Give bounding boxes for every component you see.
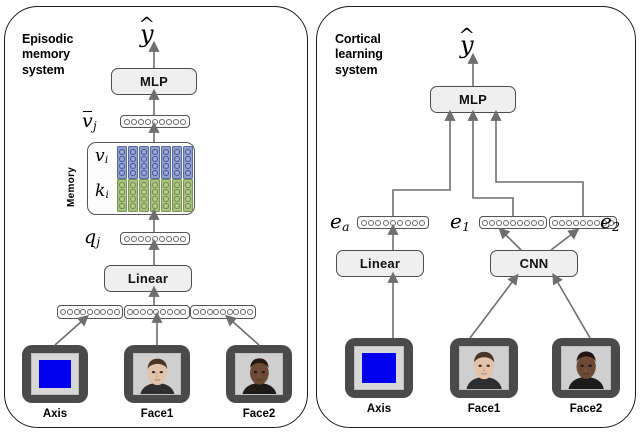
axis-embedding-cell xyxy=(397,220,403,226)
memory-key-dot xyxy=(119,189,125,195)
memory-value-dot xyxy=(174,163,180,169)
concat-segment-cell xyxy=(147,309,153,315)
memory-value-dot xyxy=(119,156,125,162)
memory-value-dot xyxy=(141,156,147,162)
stimulus-inner-face2-episodic xyxy=(235,353,284,396)
query-vector-cell xyxy=(180,236,186,242)
memory-key-dot xyxy=(174,196,180,202)
concat-segment-cell xyxy=(60,309,66,315)
concat-segment-cell xyxy=(107,309,113,315)
panel-title-episodic: Episodic memory system xyxy=(22,32,114,78)
memory-value-dot xyxy=(163,149,169,155)
face2-embedding-cell xyxy=(594,220,600,226)
memory-key-column xyxy=(117,179,127,212)
memory-key-dot xyxy=(119,182,125,188)
memory-value-dot xyxy=(152,149,158,155)
stimulus-inner-face1-cortical xyxy=(459,346,509,390)
memory-key-dot xyxy=(119,196,125,202)
caption-axis-episodic: Axis xyxy=(22,408,88,420)
memory-key-column xyxy=(139,179,149,212)
concat-segment-cell xyxy=(100,309,106,315)
concat-embedding-episodic xyxy=(57,305,256,319)
face1-embedding-cell xyxy=(517,220,523,226)
memory-key-dot xyxy=(130,203,136,209)
stimulus-tile-face1-episodic[interactable] xyxy=(124,345,190,403)
face2-image-episodic xyxy=(236,354,283,395)
memory-key-dot xyxy=(174,182,180,188)
mlp-box-cortical[interactable]: MLP xyxy=(430,86,516,113)
axis-embedding-vector xyxy=(357,216,429,229)
face2-embedding-cell xyxy=(559,220,565,226)
face2-embedding-label: e2 xyxy=(600,211,620,233)
caption-face1-episodic: Face1 xyxy=(124,408,190,420)
memory-key-dot xyxy=(152,182,158,188)
readout-vector-cell xyxy=(173,119,179,125)
face1-embedding-cell xyxy=(524,220,530,226)
memory-key-dot xyxy=(174,203,180,209)
readout-vector-cell xyxy=(138,119,144,125)
stimulus-inner-face2-cortical xyxy=(561,346,611,390)
memory-value-dot xyxy=(119,149,125,155)
memory-key-dot xyxy=(185,196,191,202)
query-vector-cell xyxy=(124,236,130,242)
stimulus-inner-axis-episodic xyxy=(31,353,80,396)
linear-box-episodic[interactable]: Linear xyxy=(104,265,192,292)
memory-value-grid xyxy=(117,146,193,179)
memory-key-dot xyxy=(163,203,169,209)
stimulus-inner-face1-episodic xyxy=(133,353,182,396)
concat-segment-cell xyxy=(227,309,233,315)
concat-segment-cell xyxy=(87,309,93,315)
memory-value-dot xyxy=(130,156,136,162)
axis-embedding-cell xyxy=(405,220,411,226)
face2-embedding-cell xyxy=(580,220,586,226)
face2-image-cortical xyxy=(562,347,610,389)
panel-title-cortical: Cortical learning system xyxy=(335,32,435,78)
concat-segment-cell xyxy=(127,309,133,315)
memory-key-dot xyxy=(185,189,191,195)
concat-segment-cell xyxy=(94,309,100,315)
memory-value-dot xyxy=(141,149,147,155)
memory-value-dot xyxy=(141,163,147,169)
face1-embedding-cell xyxy=(496,220,502,226)
memory-value-dot xyxy=(130,170,136,176)
memory-value-column xyxy=(150,146,160,179)
memory-label: Memory xyxy=(66,152,77,207)
axis-embedding-cell xyxy=(419,220,425,226)
concat-segment-cell xyxy=(153,309,159,315)
axis-embedding-cell xyxy=(383,220,389,226)
memory-key-dot xyxy=(119,203,125,209)
concat-segment-cell xyxy=(247,309,253,315)
memory-value-dot xyxy=(174,156,180,162)
concat-segment-cell xyxy=(174,309,180,315)
memory-key-dot xyxy=(141,196,147,202)
memory-value-dot xyxy=(174,149,180,155)
memory-key-column xyxy=(128,179,138,212)
caption-face2-cortical: Face2 xyxy=(552,403,620,415)
face1-embedding-cell xyxy=(503,220,509,226)
memory-value-dot xyxy=(174,170,180,176)
caption-axis-cortical: Axis xyxy=(345,403,413,415)
memory-key-dot xyxy=(163,182,169,188)
memory-key-dot xyxy=(130,196,136,202)
concat-segment-cell xyxy=(67,309,73,315)
memory-value-dot xyxy=(163,170,169,176)
stimulus-tile-face2-episodic[interactable] xyxy=(226,345,292,403)
memory-value-dot xyxy=(152,163,158,169)
concat-segment-cell xyxy=(140,309,146,315)
memory-key-dot xyxy=(130,189,136,195)
memory-key-dot xyxy=(152,189,158,195)
caption-face1-cortical: Face1 xyxy=(450,403,518,415)
memory-key-grid xyxy=(117,179,193,212)
figure-canvas: Episodic memory system ^y MLP vj Memory … xyxy=(0,0,640,433)
concat-segment-cell xyxy=(200,309,206,315)
face1-embedding-cell xyxy=(510,220,516,226)
concat-segment-cell xyxy=(180,309,186,315)
concat-segment-cell xyxy=(233,309,239,315)
query-vector-episodic xyxy=(120,232,190,245)
readout-vector-cell xyxy=(166,119,172,125)
memory-value-dot xyxy=(185,163,191,169)
concat-segment xyxy=(57,305,123,319)
axis-embedding-cell xyxy=(375,220,381,226)
query-vector-cell xyxy=(145,236,151,242)
memory-key-dot xyxy=(174,189,180,195)
memory-key-dot xyxy=(163,196,169,202)
axis-embedding-label: ea xyxy=(330,211,349,233)
readout-vector-label: vj xyxy=(82,112,97,132)
memory-value-dot xyxy=(163,163,169,169)
memory-key-column xyxy=(150,179,160,212)
stimulus-tile-face2-cortical[interactable] xyxy=(552,338,620,398)
memory-value-column xyxy=(128,146,138,179)
memory-value-dot xyxy=(152,170,158,176)
stimulus-tile-axis-cortical[interactable] xyxy=(345,338,413,398)
face1-embedding-cell xyxy=(482,220,488,226)
memory-value-dot xyxy=(119,170,125,176)
axis-embedding-cell xyxy=(361,220,367,226)
stimulus-inner-axis-cortical xyxy=(354,346,404,390)
memory-key-row-label: ki xyxy=(95,183,109,201)
memory-key-dot xyxy=(185,182,191,188)
concat-segment-cell xyxy=(213,309,219,315)
query-vector-cell xyxy=(173,236,179,242)
concat-segment xyxy=(124,305,190,319)
memory-value-dot xyxy=(163,156,169,162)
axis-color-swatch-cortical xyxy=(362,353,396,383)
memory-key-dot xyxy=(141,182,147,188)
query-vector-cell xyxy=(152,236,158,242)
query-vector-label: qj xyxy=(84,228,100,248)
memory-key-dot xyxy=(163,189,169,195)
output-label-episodic: ^y xyxy=(140,22,154,46)
concat-segment-cell xyxy=(167,309,173,315)
concat-segment-cell xyxy=(207,309,213,315)
readout-vector-cell xyxy=(124,119,130,125)
memory-key-column xyxy=(172,179,182,212)
face2-embedding-cell xyxy=(566,220,572,226)
axis-embedding-cell xyxy=(412,220,418,226)
memory-key-column xyxy=(183,179,193,212)
face1-image-episodic xyxy=(134,354,181,395)
linear-box-cortical[interactable]: Linear xyxy=(336,250,424,277)
face1-embedding-cell xyxy=(538,220,544,226)
readout-vector-episodic xyxy=(120,115,190,128)
face2-embedding-cell xyxy=(587,220,593,226)
axis-embedding-cell xyxy=(368,220,374,226)
readout-vector-cell xyxy=(159,119,165,125)
memory-value-column xyxy=(161,146,171,179)
memory-key-dot xyxy=(152,196,158,202)
face1-embedding-cell xyxy=(489,220,495,226)
concat-segment-cell xyxy=(74,309,80,315)
memory-value-dot xyxy=(185,170,191,176)
memory-value-dot xyxy=(130,163,136,169)
concat-segment-cell xyxy=(160,309,166,315)
stimulus-tile-face1-cortical[interactable] xyxy=(450,338,518,398)
memory-key-column xyxy=(161,179,171,212)
output-label-cortical: ^y xyxy=(460,33,474,57)
memory-value-dot xyxy=(130,149,136,155)
face1-embedding-label: e1 xyxy=(450,211,470,233)
axis-embedding-cell xyxy=(390,220,396,226)
memory-value-row-label: vi xyxy=(95,148,108,166)
readout-vector-cell xyxy=(180,119,186,125)
face1-image-cortical xyxy=(460,347,508,389)
memory-value-dot xyxy=(119,163,125,169)
memory-value-column xyxy=(172,146,182,179)
cnn-box-cortical[interactable]: CNN xyxy=(490,250,578,277)
memory-key-dot xyxy=(141,189,147,195)
memory-key-dot xyxy=(185,203,191,209)
face2-embedding-cell xyxy=(573,220,579,226)
query-vector-cell xyxy=(159,236,165,242)
caption-face2-episodic: Face2 xyxy=(226,408,292,420)
concat-segment-cell xyxy=(80,309,86,315)
readout-vector-cell xyxy=(131,119,137,125)
query-vector-cell xyxy=(138,236,144,242)
memory-value-dot xyxy=(185,149,191,155)
face2-embedding-cell xyxy=(552,220,558,226)
axis-color-swatch-episodic xyxy=(39,360,72,389)
concat-segment-cell xyxy=(220,309,226,315)
memory-key-dot xyxy=(141,203,147,209)
memory-key-dot xyxy=(130,182,136,188)
concat-segment-cell xyxy=(240,309,246,315)
memory-value-column xyxy=(183,146,193,179)
face1-embedding-vector xyxy=(479,216,547,229)
concat-segment-cell xyxy=(193,309,199,315)
readout-vector-cell xyxy=(152,119,158,125)
concat-segment-cell xyxy=(114,309,120,315)
query-vector-cell xyxy=(166,236,172,242)
query-vector-cell xyxy=(131,236,137,242)
memory-value-column xyxy=(117,146,127,179)
stimulus-tile-axis-episodic[interactable] xyxy=(22,345,88,403)
face1-embedding-cell xyxy=(531,220,537,226)
mlp-box-episodic[interactable]: MLP xyxy=(111,68,197,95)
memory-value-dot xyxy=(185,156,191,162)
memory-value-dot xyxy=(141,170,147,176)
memory-value-dot xyxy=(152,156,158,162)
concat-segment xyxy=(190,305,256,319)
memory-key-dot xyxy=(152,203,158,209)
concat-segment-cell xyxy=(133,309,139,315)
memory-value-column xyxy=(139,146,149,179)
readout-vector-cell xyxy=(145,119,151,125)
